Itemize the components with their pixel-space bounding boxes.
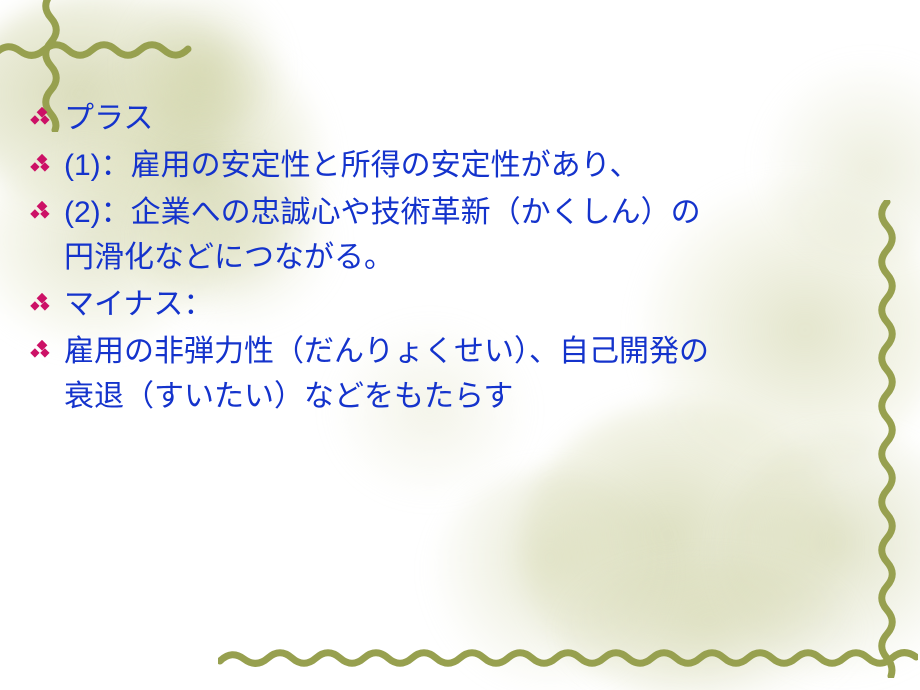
list-item-text: プラス bbox=[64, 96, 890, 141]
wavy-horizontal-line-top bbox=[0, 36, 194, 62]
diamond-bullet-icon bbox=[30, 329, 64, 362]
watermark-blob bbox=[560, 560, 860, 690]
watermark-blob bbox=[520, 400, 850, 690]
list-item[interactable]: マイナス： bbox=[30, 282, 890, 327]
wavy-horizontal-line-bottom bbox=[218, 644, 918, 670]
slide-canvas: プラス (1)：雇用の安定性と所得の安定性があり、 (2)：企業への忠誠 bbox=[0, 0, 920, 690]
diamond-bullet-icon bbox=[30, 282, 64, 315]
list-item-text: マイナス： bbox=[64, 282, 890, 327]
watermark-blob bbox=[720, 430, 920, 680]
slide-bullet-list: プラス (1)：雇用の安定性と所得の安定性があり、 (2)：企業への忠誠 bbox=[30, 96, 890, 421]
list-item[interactable]: プラス bbox=[30, 96, 890, 141]
diamond-bullet-icon bbox=[30, 143, 64, 176]
list-item-text: (2)：企業への忠誠心や技術革新（かくしん）の 円滑化などにつながる。 bbox=[64, 190, 890, 280]
diamond-bullet-icon bbox=[30, 190, 64, 223]
diamond-bullet-icon bbox=[30, 96, 64, 129]
list-item-text: 雇用の非弾力性（だんりょくせい）、自己開発の 衰退（すいたい）などをもたらす bbox=[64, 329, 890, 419]
list-item-text: (1)：雇用の安定性と所得の安定性があり、 bbox=[64, 143, 890, 188]
list-item[interactable]: 雇用の非弾力性（だんりょくせい）、自己開発の 衰退（すいたい）などをもたらす bbox=[30, 329, 890, 419]
list-item[interactable]: (2)：企業への忠誠心や技術革新（かくしん）の 円滑化などにつながる。 bbox=[30, 190, 890, 280]
list-item[interactable]: (1)：雇用の安定性と所得の安定性があり、 bbox=[30, 143, 890, 188]
watermark-blob bbox=[430, 470, 670, 690]
